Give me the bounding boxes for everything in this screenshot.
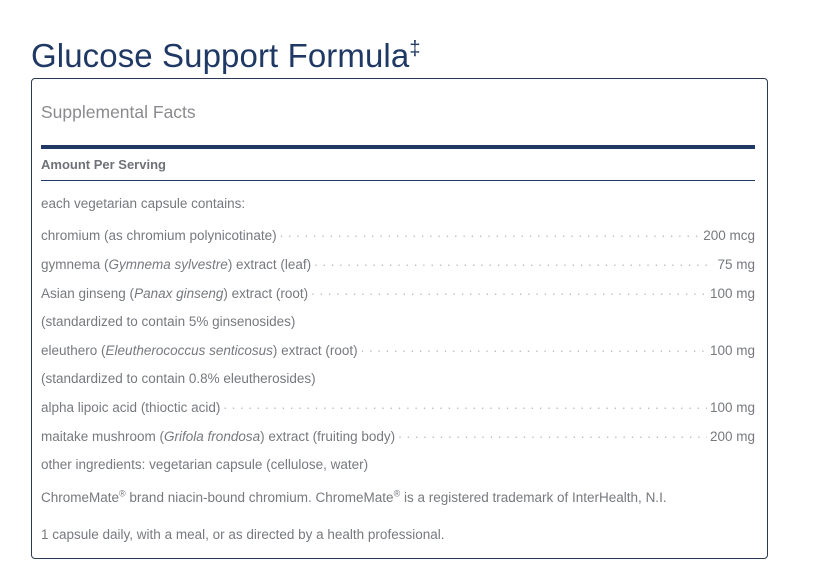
product-title-text: Glucose Support Formula (31, 37, 409, 74)
table-row: chromium (as chromium polynicotinate) 20… (41, 221, 755, 250)
ingredient-amount: 100 mg (710, 342, 755, 359)
table-row: maitake mushroom (Grifola frondosa) extr… (41, 422, 755, 451)
serving-intro-text: each vegetarian capsule contains: (41, 187, 755, 221)
other-ingredients-text: other ingredients: vegetarian capsule (c… (41, 451, 755, 479)
ingredient-amount: 200 mcg (703, 227, 755, 244)
supplemental-facts-card: Supplemental Facts Amount Per Serving ea… (31, 78, 768, 559)
leader-dots (314, 256, 714, 269)
standardization-note: (standardized to contain 0.8% eleutheros… (41, 365, 755, 393)
leader-dots (361, 342, 707, 355)
leader-dots (311, 285, 707, 298)
ingredient-name: gymnema (Gymnema sylvestre) extract (lea… (41, 256, 311, 273)
page-title: Glucose Support Formula‡ (31, 34, 421, 78)
directions-text: 1 capsule daily, with a meal, or as dire… (41, 516, 755, 553)
table-row: eleuthero (Eleutherococcus senticosus) e… (41, 336, 755, 365)
standardization-note: (standardized to contain 5% ginsenosides… (41, 308, 755, 336)
ingredient-name: Asian ginseng (Panax ginseng) extract (r… (41, 285, 308, 302)
leader-dots (280, 227, 701, 240)
amount-per-serving-header: Amount Per Serving (41, 149, 754, 180)
leader-dots (398, 428, 707, 441)
table-row: alpha lipoic acid (thioctic acid) 100 mg (41, 393, 755, 422)
supplemental-facts-heading: Supplemental Facts (41, 99, 754, 125)
ingredient-amount: 100 mg (710, 285, 755, 302)
ingredient-name: eleuthero (Eleutherococcus senticosus) e… (41, 342, 358, 359)
ingredient-amount: 200 mg (710, 428, 755, 445)
leader-dots (223, 399, 707, 412)
ingredient-amount: 100 mg (710, 399, 755, 416)
table-row: gymnema (Gymnema sylvestre) extract (lea… (41, 250, 755, 279)
ingredient-latin-name: Gymnema sylvestre (109, 257, 228, 272)
ingredient-latin-name: Grifola frondosa (164, 429, 260, 444)
ingredient-latin-name: Panax ginseng (134, 286, 223, 301)
table-row: Asian ginseng (Panax ginseng) extract (r… (41, 279, 755, 308)
trademark-note: ChromeMate® brand niacin-bound chromium.… (41, 479, 755, 516)
ingredient-name: chromium (as chromium polynicotinate) (41, 227, 277, 244)
ingredient-list: each vegetarian capsule contains: chromi… (41, 181, 755, 553)
ingredient-name: maitake mushroom (Grifola frondosa) extr… (41, 428, 395, 445)
registered-trademark-symbol: ® (119, 489, 126, 499)
ingredient-amount: 75 mg (717, 256, 755, 273)
double-dagger-symbol: ‡ (409, 38, 420, 60)
ingredient-name: alpha lipoic acid (thioctic acid) (41, 399, 220, 416)
supplement-facts-page: Glucose Support Formula‡ Supplemental Fa… (0, 0, 814, 580)
ingredient-latin-name: Eleutherococcus senticosus (106, 343, 273, 358)
